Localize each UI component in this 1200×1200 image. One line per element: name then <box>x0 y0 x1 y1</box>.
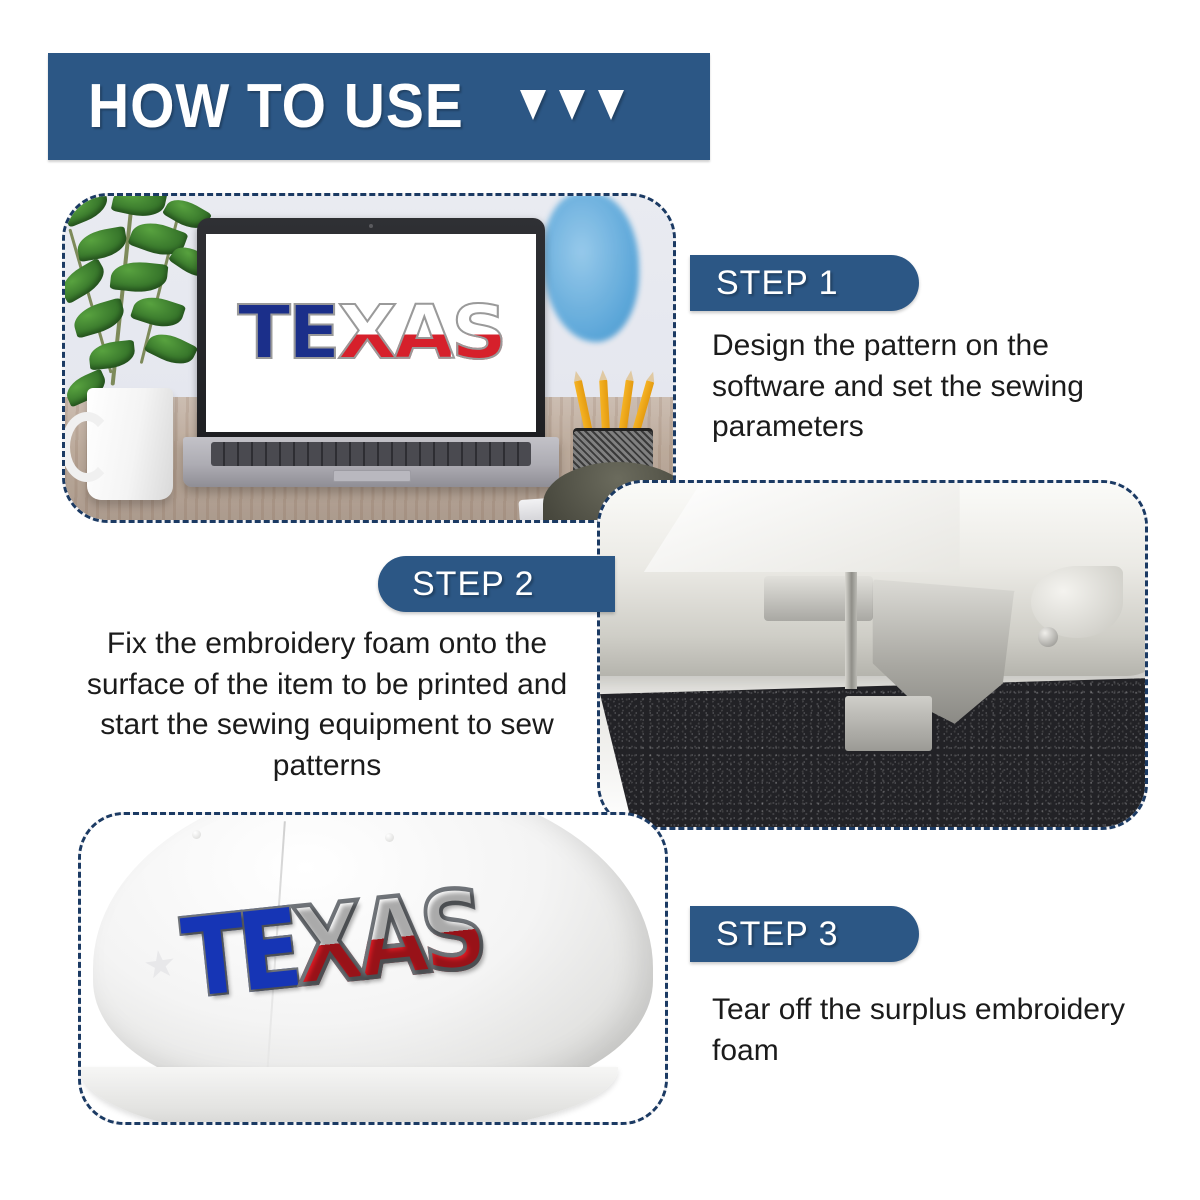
cap-texas-wordmark: TEXAS <box>178 875 485 1013</box>
chevron-down-icon <box>598 90 624 120</box>
cap-scene: TEXAS <box>81 815 665 1122</box>
chevron-down-icon <box>520 90 546 120</box>
chevron-down-icon <box>559 90 585 120</box>
step-2-badge: STEP 2 <box>378 556 615 612</box>
step-2-description: Fix the embroidery foam onto the surface… <box>72 624 582 786</box>
cap-letters-te: TE <box>177 885 301 1021</box>
needle-bar <box>845 572 857 689</box>
texas-letter-s: S <box>451 290 504 376</box>
page-title: HOW TO USE <box>88 76 464 138</box>
step-1-description: Design the pattern on the software and s… <box>712 326 1162 448</box>
step-2-badge-label: STEP 2 <box>412 565 535 604</box>
cap-brim <box>81 1067 618 1122</box>
presser-foot <box>845 696 932 751</box>
step-3-badge: STEP 3 <box>690 906 919 962</box>
texas-letter-a: A <box>394 290 451 376</box>
step-2-image <box>597 480 1148 830</box>
step-1-image: TEXAS <box>62 193 676 523</box>
machine-bed-ruler <box>600 662 862 664</box>
laptop-trackpad <box>333 470 411 482</box>
chevron-group <box>520 90 624 124</box>
step-3-badge-label: STEP 3 <box>716 915 839 954</box>
webcam-icon <box>369 224 373 228</box>
step-1-badge: STEP 1 <box>690 255 919 311</box>
sewing-machine-scene <box>600 483 1145 827</box>
laptop: TEXAS <box>197 218 545 496</box>
texas-letters-te: TE <box>238 290 338 376</box>
laptop-screen: TEXAS <box>206 234 536 432</box>
step-1-badge-label: STEP 1 <box>716 264 839 303</box>
laptop-lid: TEXAS <box>197 218 545 440</box>
texas-letter-x: X <box>338 290 395 376</box>
laptop-base <box>183 437 559 487</box>
header-banner: HOW TO USE <box>48 53 710 160</box>
laptop-scene: TEXAS <box>65 196 673 520</box>
step-3-image: TEXAS <box>78 812 668 1125</box>
laptop-keyboard <box>211 442 531 466</box>
cap-letters-xas: XAS <box>288 866 487 1010</box>
white-coffee-mug <box>87 388 173 500</box>
texas-wordmark: TEXAS <box>238 296 504 370</box>
step-3-description: Tear off the surplus embroidery foam <box>712 990 1152 1071</box>
